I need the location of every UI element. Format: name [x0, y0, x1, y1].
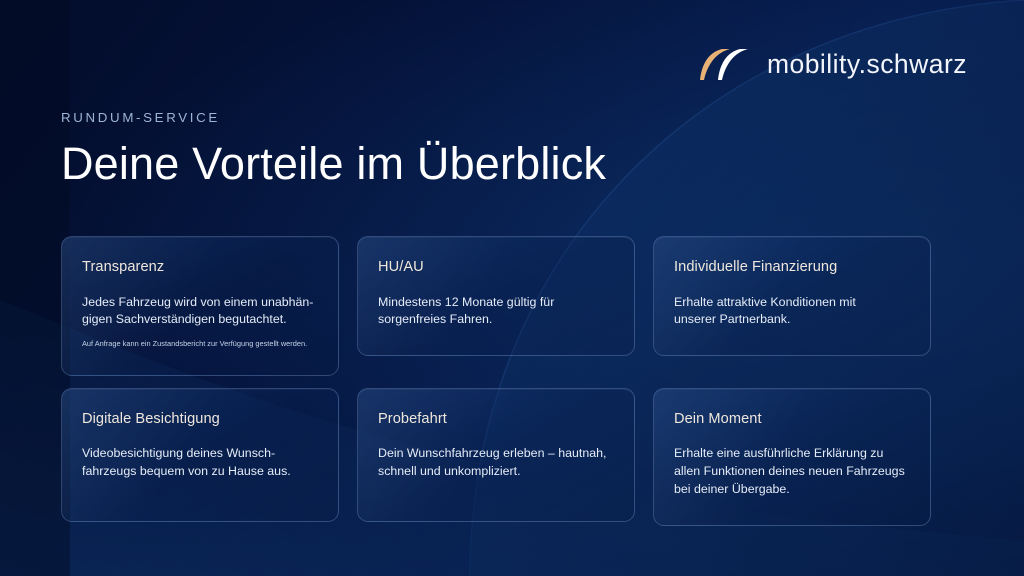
- left-vignette: [0, 0, 70, 576]
- page-title: Deine Vorteile im Überblick: [61, 140, 606, 189]
- card-body: Mindestens 12 Monate gültig für sorgenfr…: [378, 294, 614, 329]
- benefit-card-transparenz[interactable]: Transparenz Jedes Fahrzeug wird von eine…: [61, 236, 339, 376]
- benefit-card-hu-au[interactable]: HU/AU Mindestens 12 Monate gültig für so…: [357, 236, 635, 356]
- card-footnote: Auf Anfrage kann ein Zustandsbericht zur…: [82, 339, 318, 349]
- card-body: Videobesichtigung deines Wunsch- fahrzeu…: [82, 445, 318, 480]
- brand-logo[interactable]: mobility.schwarz: [698, 49, 967, 80]
- benefit-card-digitale-besichtigung[interactable]: Digitale Besichtigung Videobesichtigung …: [61, 388, 339, 522]
- card-title: Digitale Besichtigung: [82, 411, 318, 429]
- card-body: Jedes Fahrzeug wird von einem unabhän- g…: [82, 294, 318, 329]
- card-body: Erhalte attraktive Konditionen mit unser…: [674, 294, 910, 329]
- benefit-card-dein-moment[interactable]: Dein Moment Erhalte eine ausführliche Er…: [653, 388, 931, 526]
- benefit-card-individuelle-finanzierung[interactable]: Individuelle Finanzierung Erhalte attrak…: [653, 236, 931, 356]
- presentation-slide: mobility.schwarz RUNDUM-SERVICE Deine Vo…: [0, 0, 1024, 576]
- benefit-card-probefahrt[interactable]: Probefahrt Dein Wunschfahrzeug erleben –…: [357, 388, 635, 522]
- double-swoosh-logo-icon: [698, 49, 750, 80]
- brand-name: mobility.schwarz: [767, 49, 967, 80]
- card-body: Erhalte eine ausführliche Erklärung zu a…: [674, 445, 910, 498]
- heading-block: RUNDUM-SERVICE Deine Vorteile im Überbli…: [61, 111, 606, 189]
- card-title: Transparenz: [82, 259, 318, 277]
- card-title: Dein Moment: [674, 411, 910, 429]
- card-title: Probefahrt: [378, 411, 614, 429]
- benefit-card-grid: Transparenz Jedes Fahrzeug wird von eine…: [61, 236, 937, 526]
- card-title: HU/AU: [378, 259, 614, 277]
- card-body: Dein Wunschfahrzeug erleben – hautnah, s…: [378, 445, 614, 480]
- eyebrow-label: RUNDUM-SERVICE: [61, 111, 606, 124]
- card-title: Individuelle Finanzierung: [674, 259, 910, 277]
